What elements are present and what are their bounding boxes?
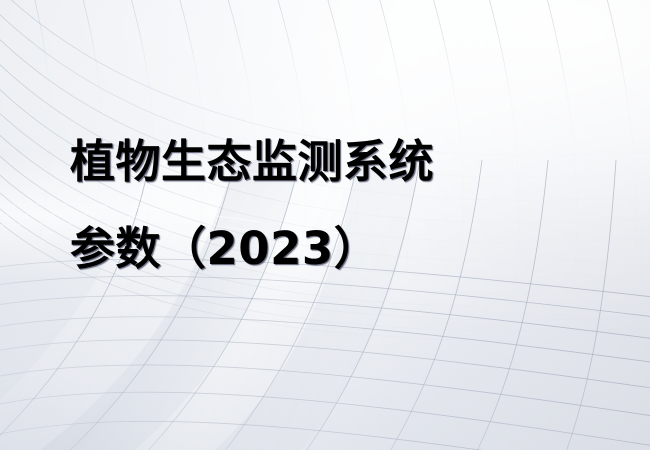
slide-title: 植物生态监测系统 参数（2023） (70, 118, 610, 292)
title-line-1: 植物生态监测系统 (70, 118, 610, 205)
title-slide: 植物生态监测系统 参数（2023） (0, 0, 650, 450)
title-line-2: 参数（2023） (70, 205, 610, 292)
